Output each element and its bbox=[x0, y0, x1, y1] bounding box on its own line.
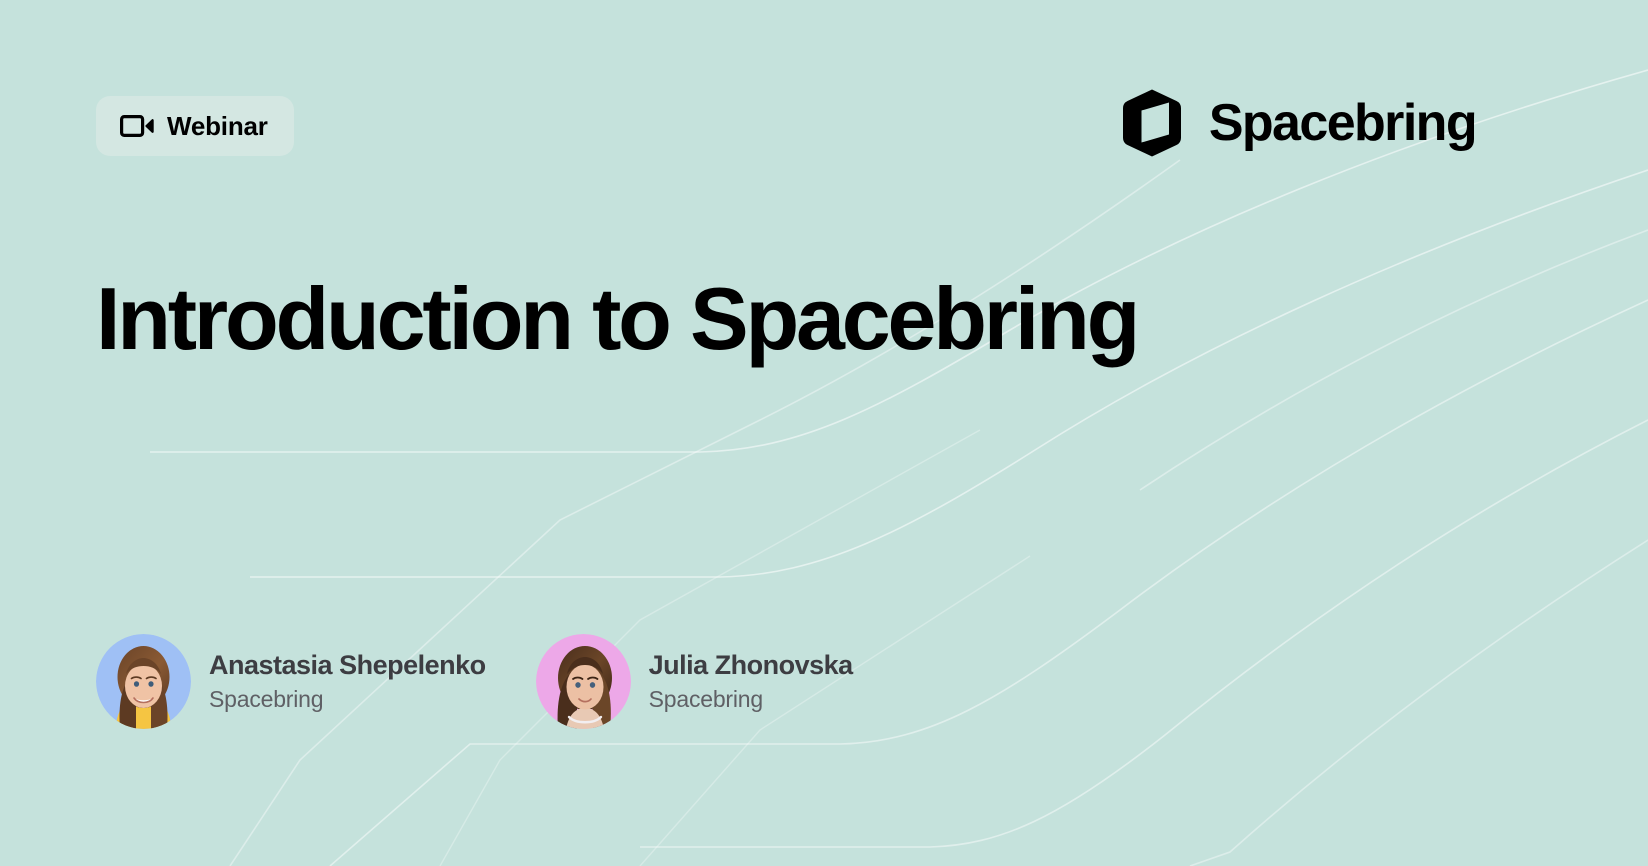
page-title: Introduction to Spacebring bbox=[96, 272, 1137, 365]
webinar-badge-label: Webinar bbox=[167, 113, 268, 139]
spacebring-cube-logo-icon bbox=[1121, 88, 1183, 158]
speaker-item: Anastasia Shepelenko Spacebring bbox=[96, 634, 486, 729]
brand-wordmark: Spacebring bbox=[1209, 97, 1476, 149]
speaker-meta: Julia Zhonovska Spacebring bbox=[649, 651, 853, 712]
brand-lockup: Spacebring bbox=[1121, 88, 1476, 158]
avatar-julia-zhonovska bbox=[536, 634, 631, 729]
speaker-name: Julia Zhonovska bbox=[649, 651, 853, 681]
speaker-name: Anastasia Shepelenko bbox=[209, 651, 486, 681]
webinar-badge: Webinar bbox=[96, 96, 294, 156]
speaker-org: Spacebring bbox=[649, 687, 853, 712]
speakers-list: Anastasia Shepelenko Spacebring bbox=[96, 634, 903, 729]
speaker-meta: Anastasia Shepelenko Spacebring bbox=[209, 651, 486, 712]
avatar-anastasia-shepelenko bbox=[96, 634, 191, 729]
speaker-item: Julia Zhonovska Spacebring bbox=[536, 634, 853, 729]
speaker-org: Spacebring bbox=[209, 687, 486, 712]
video-camera-icon bbox=[120, 115, 154, 137]
